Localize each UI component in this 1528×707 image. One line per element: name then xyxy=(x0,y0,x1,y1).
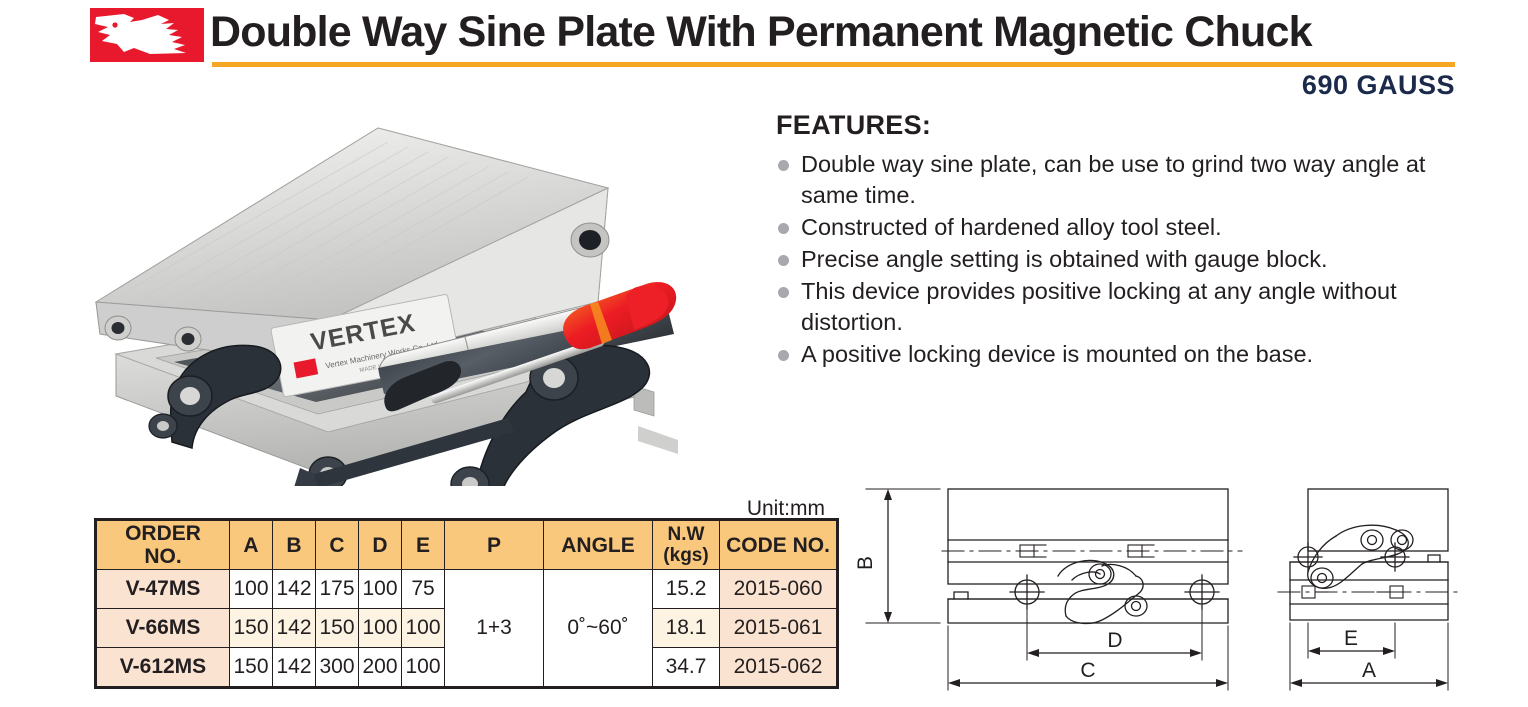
cell-a: 150 xyxy=(230,648,273,688)
cell-code-no: 2015-060 xyxy=(720,570,838,609)
cell-code-no: 2015-062 xyxy=(720,648,838,688)
order-header-line2: NO. xyxy=(144,545,181,568)
column-header-b: B xyxy=(273,520,316,570)
cell-d: 100 xyxy=(359,570,402,609)
column-header-nw: N.W (kgs) xyxy=(653,520,720,570)
cell-c: 150 xyxy=(316,609,359,648)
column-header-a: A xyxy=(230,520,273,570)
cell-order-no: V-612MS xyxy=(96,648,230,688)
cell-order-no: V-66MS xyxy=(96,609,230,648)
page-title: Double Way Sine Plate With Permanent Mag… xyxy=(210,5,1455,59)
feature-item: Precise angle setting is obtained with g… xyxy=(776,244,1476,275)
features-section: FEATURES: Double way sine plate, can be … xyxy=(776,110,1476,371)
features-heading: FEATURES: xyxy=(776,110,1476,141)
column-header-c: C xyxy=(316,520,359,570)
table-header-row: ORDER NO. A B C D E P ANGLE N.W (kgs) CO… xyxy=(96,520,838,570)
feature-text: Constructed of hardened alloy tool steel… xyxy=(801,214,1222,240)
feature-text: A positive locking device is mounted on … xyxy=(801,341,1313,367)
cell-p-merged: 1+3 xyxy=(445,570,544,688)
specification-table: ORDER NO. A B C D E P ANGLE N.W (kgs) CO… xyxy=(94,518,839,689)
column-header-angle: ANGLE xyxy=(544,520,653,570)
cell-code-no: 2015-061 xyxy=(720,609,838,648)
cell-c: 175 xyxy=(316,570,359,609)
column-header-order-no: ORDER NO. xyxy=(96,520,230,570)
dim-label-c: C xyxy=(1080,659,1095,682)
cell-order-no: V-47MS xyxy=(96,570,230,609)
dim-label-b: B xyxy=(854,556,877,570)
column-header-code-no: CODE NO. xyxy=(720,520,838,570)
bullet-icon xyxy=(778,223,789,234)
cell-b: 142 xyxy=(273,648,316,688)
bullet-icon xyxy=(778,287,789,298)
cell-angle-merged: 0˚~60˚ xyxy=(544,570,653,688)
title-underline-rule xyxy=(212,62,1455,67)
bullet-icon xyxy=(778,350,789,361)
column-header-d: D xyxy=(359,520,402,570)
features-list: Double way sine plate, can be use to gri… xyxy=(776,149,1476,370)
dim-label-a: A xyxy=(1362,659,1376,682)
cell-e: 75 xyxy=(402,570,445,609)
cell-nw: 34.7 xyxy=(653,648,720,688)
feature-item: A positive locking device is mounted on … xyxy=(776,339,1476,370)
feature-text: Double way sine plate, can be use to gri… xyxy=(801,151,1425,208)
feature-item: Constructed of hardened alloy tool steel… xyxy=(776,212,1476,243)
product-photo: VERTEX Vertex Machinery Works Co.,Ltd MA… xyxy=(78,96,778,486)
gauss-rating-label: 690 GAUSS xyxy=(900,70,1455,101)
cell-b: 142 xyxy=(273,570,316,609)
bullet-icon xyxy=(778,160,789,171)
eagle-head-logo-icon xyxy=(90,8,204,62)
column-header-p: P xyxy=(445,520,544,570)
table-row: V-47MS 100 142 175 100 75 1+3 0˚~60˚ 15.… xyxy=(96,570,838,609)
cell-a: 150 xyxy=(230,609,273,648)
cell-d: 100 xyxy=(359,609,402,648)
column-header-e: E xyxy=(402,520,445,570)
order-header-line1: ORDER xyxy=(125,522,201,545)
cell-b: 142 xyxy=(273,609,316,648)
feature-item: This device provides positive locking at… xyxy=(776,276,1476,338)
feature-item: Double way sine plate, can be use to gri… xyxy=(776,149,1476,211)
feature-text: This device provides positive locking at… xyxy=(801,278,1397,335)
technical-drawings: B D C E A xyxy=(850,478,1528,703)
specification-table-wrapper: ORDER NO. A B C D E P ANGLE N.W (kgs) CO… xyxy=(94,518,830,689)
cell-nw: 15.2 xyxy=(653,570,720,609)
nw-header-line2: (kgs) xyxy=(653,545,719,566)
catalog-page: Double Way Sine Plate With Permanent Mag… xyxy=(0,0,1528,707)
cell-d: 200 xyxy=(359,648,402,688)
cell-e: 100 xyxy=(402,609,445,648)
cell-a: 100 xyxy=(230,570,273,609)
cell-c: 300 xyxy=(316,648,359,688)
cell-nw: 18.1 xyxy=(653,609,720,648)
dim-label-d: D xyxy=(1107,629,1122,652)
bullet-icon xyxy=(778,255,789,266)
feature-text: Precise angle setting is obtained with g… xyxy=(801,246,1327,272)
cell-e: 100 xyxy=(402,648,445,688)
front-view-drawing xyxy=(866,489,1242,690)
dim-label-e: E xyxy=(1344,627,1358,650)
nw-header-line1: N.W xyxy=(653,524,719,545)
